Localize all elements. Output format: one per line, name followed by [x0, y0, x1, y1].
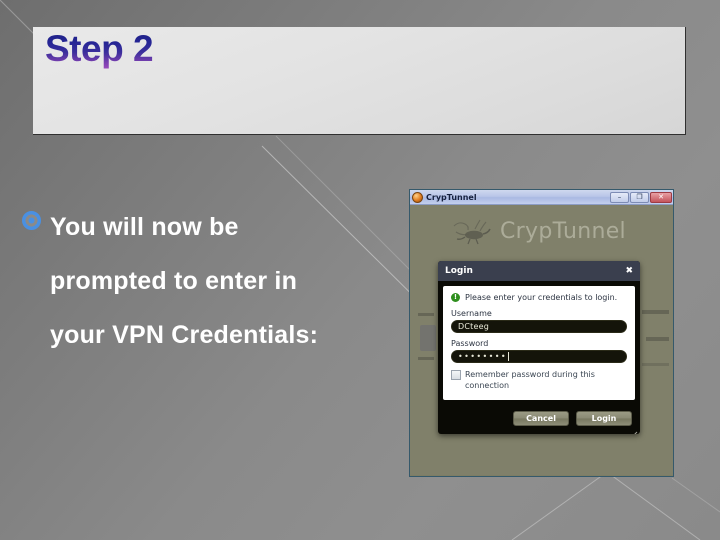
username-label: Username	[451, 309, 627, 318]
bullet-text: You will now be prompted to enter in you…	[50, 200, 318, 362]
background-field-right-2	[646, 337, 669, 341]
password-value: ••••••••	[458, 352, 507, 361]
circle-bullet-icon	[22, 211, 41, 230]
minimize-icon: –	[618, 194, 622, 201]
close-icon: ✕	[658, 194, 664, 201]
remember-password-checkbox-row[interactable]: Remember password during this connection	[451, 369, 627, 391]
maximize-button[interactable]: ❐	[630, 192, 649, 203]
cancel-button[interactable]: Cancel	[513, 411, 569, 426]
background-field-right-3	[642, 363, 669, 366]
login-message-text: Please enter your credentials to login.	[465, 293, 617, 302]
login-button[interactable]: Login	[576, 411, 632, 426]
login-close-icon[interactable]: ✖	[625, 267, 633, 276]
password-input[interactable]: ••••••••	[451, 350, 627, 363]
page-title: Step 2	[45, 28, 153, 70]
password-label: Password	[451, 339, 627, 348]
presentation-slide: Step 2 You will now be prompted to enter…	[0, 0, 720, 540]
background-field-left-2	[418, 357, 434, 360]
window-body: CrypTunnel Login ✖ ! Please enter your c…	[410, 205, 673, 475]
cryptunnel-logo: CrypTunnel	[450, 216, 626, 246]
checkbox-icon[interactable]	[451, 370, 461, 380]
scorpion-logo-icon	[450, 216, 496, 246]
cryptunnel-logo-text: CrypTunnel	[500, 219, 626, 244]
login-dialog-buttons: Cancel Login	[438, 405, 640, 434]
info-icon: !	[451, 293, 460, 302]
text-caret	[508, 352, 509, 361]
bullet-line-1: You will now be	[50, 200, 318, 254]
cryptunnel-screenshot: CrypTunnel – ❐ ✕	[409, 189, 674, 477]
close-button[interactable]: ✕	[650, 192, 672, 203]
window-titlebar: CrypTunnel – ❐ ✕	[410, 190, 673, 205]
background-panel-left	[420, 325, 436, 351]
bullet-line-3: your VPN Credentials:	[50, 308, 318, 362]
list-item: You will now be prompted to enter in you…	[22, 200, 392, 362]
minimize-button[interactable]: –	[610, 192, 629, 203]
resize-grip-icon[interactable]	[630, 424, 638, 432]
login-dialog-header: Login ✖	[438, 261, 640, 281]
login-form-panel: ! Please enter your credentials to login…	[443, 286, 635, 400]
remember-password-label: Remember password during this connection	[465, 369, 627, 391]
username-value: DCteeg	[458, 322, 489, 331]
login-dialog: Login ✖ ! Please enter your credentials …	[438, 261, 640, 434]
body-content: You will now be prompted to enter in you…	[22, 200, 392, 362]
bullet-line-2: prompted to enter in	[50, 254, 318, 308]
username-input[interactable]: DCteeg	[451, 320, 627, 333]
window-title: CrypTunnel	[426, 193, 609, 202]
login-dialog-title: Login	[445, 266, 473, 276]
cryptunnel-app-icon	[412, 192, 423, 203]
login-message: ! Please enter your credentials to login…	[451, 293, 627, 302]
background-field-left-1	[418, 313, 434, 316]
maximize-icon: ❐	[636, 194, 642, 201]
background-field-right-1	[642, 310, 669, 314]
